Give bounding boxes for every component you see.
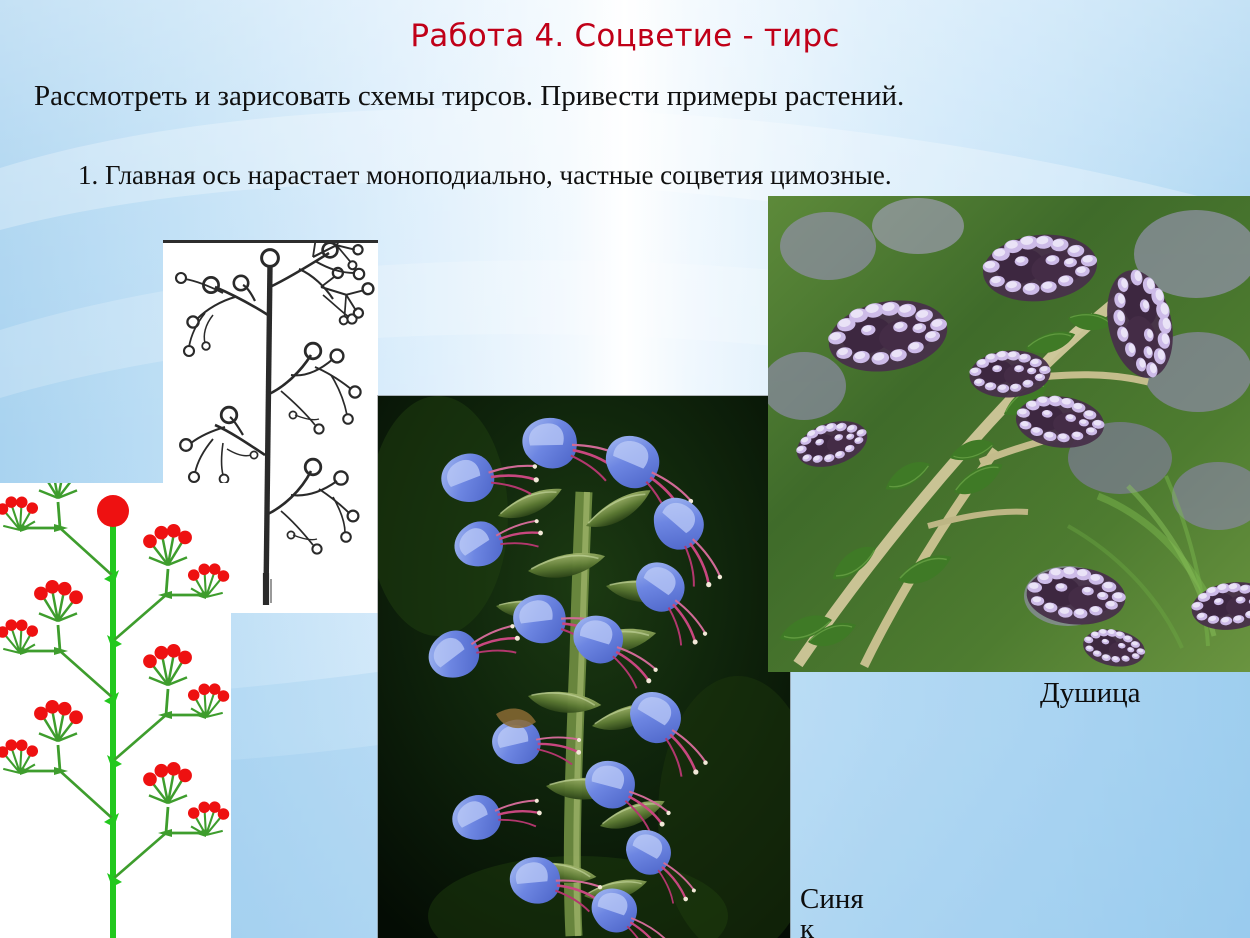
photo-echium-vulgare [378,396,790,938]
scheme-svg [0,483,231,938]
slide-paragraph-1: 1. Главная ось нарастает моноподиально, … [78,155,998,197]
page-title: Работа 4. Соцветие - тирс [0,18,1250,54]
slide-subtitle: Рассмотреть и зарисовать схемы тирсов. П… [34,80,904,113]
caption-sinyak-line2: к [800,914,864,938]
photo-echium-svg [378,396,790,938]
photo-origanum-svg [768,196,1250,672]
slide-canvas: Работа 4. Соцветие - тирс Рассмотреть и … [0,0,1250,938]
caption-dushica: Душица [1040,678,1141,708]
caption-sinyak: Синя к [800,884,864,938]
photo-origanum-vulgare [768,196,1250,672]
thyrse-scheme-diagram [0,483,231,938]
caption-sinyak-line1: Синя [800,883,864,915]
